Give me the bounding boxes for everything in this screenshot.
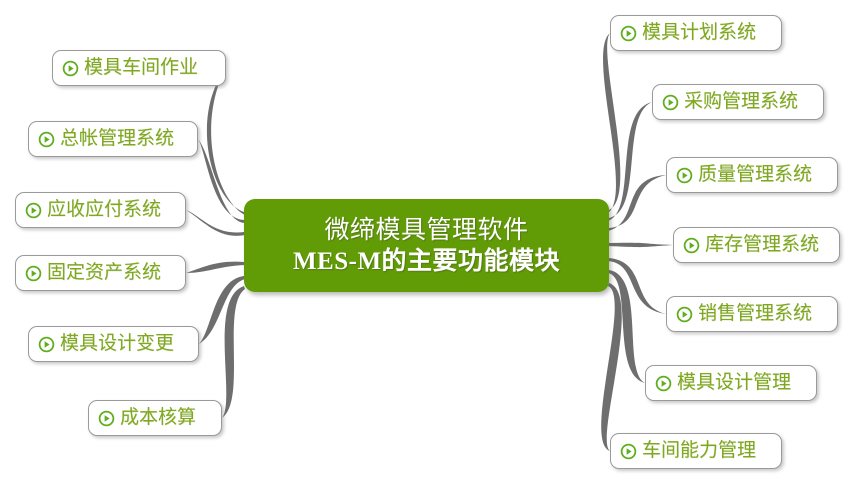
connector-right-3 <box>608 175 666 231</box>
topic-node[interactable]: 采购管理系统 <box>652 84 824 120</box>
play-circle-icon <box>62 60 79 77</box>
topic-node[interactable]: 销售管理系统 <box>666 296 838 332</box>
central-topic-line-2: MES-M的主要功能模块 <box>293 246 560 277</box>
play-circle-icon <box>655 375 672 392</box>
topic-node-label: 库存管理系统 <box>705 234 819 256</box>
connector-left-3 <box>186 210 245 236</box>
topic-node-label: 模具设计变更 <box>60 333 174 355</box>
play-circle-icon <box>38 131 55 148</box>
topic-node-label: 销售管理系统 <box>698 303 812 325</box>
play-circle-icon <box>38 336 55 353</box>
connector-left-1 <box>207 68 245 215</box>
topic-node-label: 车间能力管理 <box>642 440 756 462</box>
topic-node-label: 成本核算 <box>120 407 196 429</box>
topic-node[interactable]: 模具设计管理 <box>645 365 817 401</box>
play-circle-icon <box>25 202 42 219</box>
central-topic-line-1: 微缔模具管理软件 <box>324 215 528 246</box>
connector-right-7 <box>601 283 622 451</box>
topic-node[interactable]: 模具计划系统 <box>610 15 782 51</box>
topic-node-label: 模具设计管理 <box>677 372 791 394</box>
connector-left-5 <box>199 276 245 344</box>
play-circle-icon <box>683 237 700 254</box>
topic-node[interactable]: 模具车间作业 <box>52 50 226 86</box>
topic-node[interactable]: 模具设计变更 <box>28 326 199 362</box>
connector-left-2 <box>198 139 245 223</box>
connector-right-4 <box>608 243 673 247</box>
topic-node-label: 模具计划系统 <box>642 22 756 44</box>
connector-left-6 <box>222 286 245 418</box>
connector-right-5 <box>608 258 666 314</box>
play-circle-icon <box>620 443 637 460</box>
play-circle-icon <box>676 306 693 323</box>
topic-node[interactable]: 固定资产系统 <box>15 255 186 291</box>
connector-left-4 <box>186 262 245 273</box>
play-circle-icon <box>25 265 42 282</box>
topic-node[interactable]: 质量管理系统 <box>666 157 838 193</box>
topic-node[interactable]: 车间能力管理 <box>610 433 782 469</box>
topic-node-label: 应收应付系统 <box>47 199 161 221</box>
play-circle-icon <box>620 25 637 42</box>
play-circle-icon <box>676 167 693 184</box>
topic-node[interactable]: 总帐管理系统 <box>28 121 198 157</box>
topic-node-label: 模具车间作业 <box>84 57 198 79</box>
central-topic-node[interactable]: 微缔模具管理软件 MES-M的主要功能模块 <box>244 199 609 292</box>
topic-node-label: 固定资产系统 <box>47 262 161 284</box>
topic-node[interactable]: 应收应付系统 <box>15 192 186 228</box>
topic-node[interactable]: 库存管理系统 <box>673 227 840 263</box>
play-circle-icon <box>662 94 679 111</box>
connector-right-2 <box>608 102 652 221</box>
mindmap-canvas: 微缔模具管理软件 MES-M的主要功能模块 模具车间作业总帐管理系统应收应付系统… <box>0 0 854 490</box>
topic-node-label: 总帐管理系统 <box>60 128 174 150</box>
topic-node-label: 质量管理系统 <box>698 164 812 186</box>
connector-right-1 <box>603 33 620 213</box>
topic-node-label: 采购管理系统 <box>684 91 798 113</box>
play-circle-icon <box>98 410 115 427</box>
connector-right-6 <box>608 270 645 383</box>
topic-node[interactable]: 成本核算 <box>88 400 222 436</box>
